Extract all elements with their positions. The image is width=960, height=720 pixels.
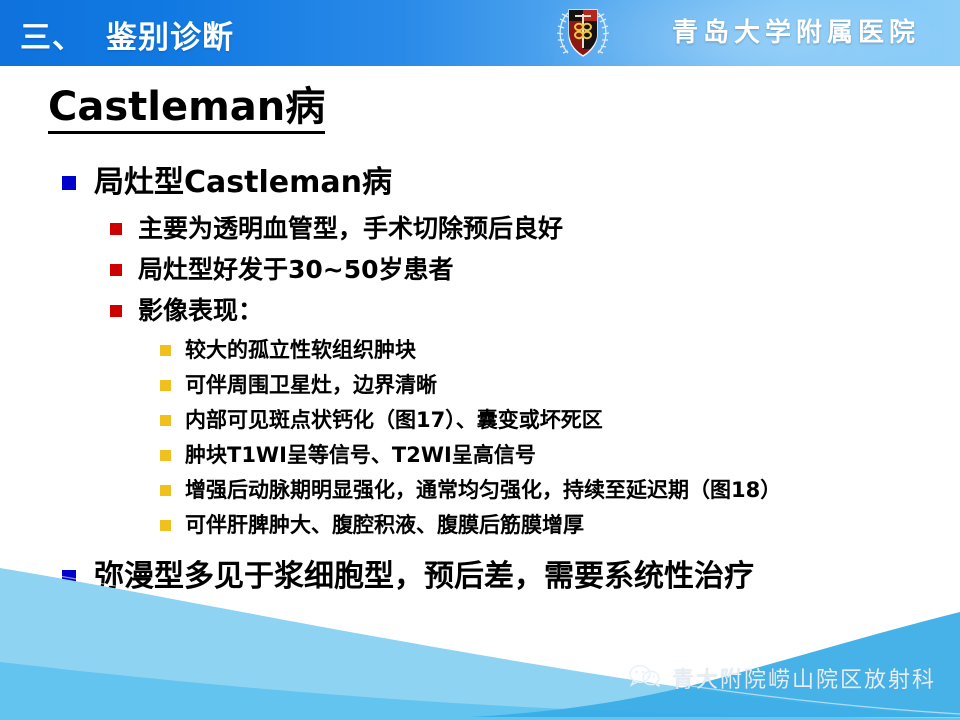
list-item-label: 内部可见斑点状钙化（图17）、囊变或坏死区	[185, 403, 603, 437]
bullet-square-red-icon	[110, 223, 122, 235]
list-item: 可伴周围卫星灶，边界清晰	[0, 368, 960, 402]
list-item-label: 局灶型好发于30~50岁患者	[138, 251, 454, 289]
list-item: 较大的孤立性软组织肿块	[0, 333, 960, 367]
bullet-square-red-icon	[110, 264, 122, 276]
bullet-square-yellow-icon	[160, 380, 171, 391]
list-item-label: 较大的孤立性软组织肿块	[185, 333, 416, 367]
section-number: 三、	[20, 20, 84, 56]
bullet-square-yellow-icon	[160, 345, 171, 356]
list-item-label: 主要为透明血管型，手术切除预后良好	[138, 210, 563, 248]
hospital-name: 青岛大学附属医院	[672, 12, 920, 49]
section-heading: 三、鉴别诊断	[20, 12, 234, 57]
bullet-list: 局灶型Castleman病 主要为透明血管型，手术切除预后良好 局灶型好发于30…	[0, 162, 960, 604]
bullet-square-yellow-icon	[160, 415, 171, 426]
bullet-square-blue-icon	[62, 570, 76, 584]
slide-header-band: 三、鉴别诊断	[0, 0, 960, 66]
bullet-square-yellow-icon	[160, 450, 171, 461]
presentation-slide: 三、鉴别诊断	[0, 0, 960, 720]
list-item: 肿块T1WI呈等信号、T2WI呈高信号	[0, 438, 960, 472]
slide-body: Castleman病 局灶型Castleman病 主要为透明血管型，手术切除预后…	[0, 66, 960, 720]
page-title: Castleman病	[48, 86, 325, 134]
list-item-label: 弥漫型多见于浆细胞型，预后差，需要系统性治疗	[94, 556, 754, 598]
footer-watermark-text: 青大附院崂山院区放射科	[672, 662, 936, 694]
list-item: 主要为透明血管型，手术切除预后良好	[0, 210, 960, 248]
list-item-label: 肿块T1WI呈等信号、T2WI呈高信号	[185, 438, 536, 472]
hospital-shield-caduceus-icon	[552, 3, 614, 63]
list-item-label: 可伴肝脾肿大、腹腔积液、腹膜后筋膜增厚	[185, 508, 584, 542]
bullet-square-blue-icon	[62, 176, 76, 190]
footer-watermark: 青大附院崂山院区放射科	[628, 662, 936, 694]
bullet-square-yellow-icon	[160, 520, 171, 531]
section-title-text: 鉴别诊断	[106, 20, 234, 56]
list-item: 影像表现：	[0, 292, 960, 330]
list-item: 可伴肝脾肿大、腹腔积液、腹膜后筋膜增厚	[0, 508, 960, 542]
list-item-label: 增强后动脉期明显强化，通常均匀强化，持续至延迟期（图18）	[185, 473, 781, 507]
list-item-label: 局灶型Castleman病	[94, 162, 392, 204]
bullet-square-red-icon	[110, 305, 122, 317]
list-item: 局灶型好发于30~50岁患者	[0, 251, 960, 289]
wechat-icon	[628, 664, 662, 692]
bullet-square-yellow-icon	[160, 485, 171, 496]
list-item: 弥漫型多见于浆细胞型，预后差，需要系统性治疗	[0, 556, 960, 598]
list-item: 内部可见斑点状钙化（图17）、囊变或坏死区	[0, 403, 960, 437]
list-item-label: 影像表现：	[138, 292, 263, 330]
list-item: 局灶型Castleman病	[0, 162, 960, 204]
list-item: 增强后动脉期明显强化，通常均匀强化，持续至延迟期（图18）	[0, 473, 960, 507]
list-item-label: 可伴周围卫星灶，边界清晰	[185, 368, 437, 402]
